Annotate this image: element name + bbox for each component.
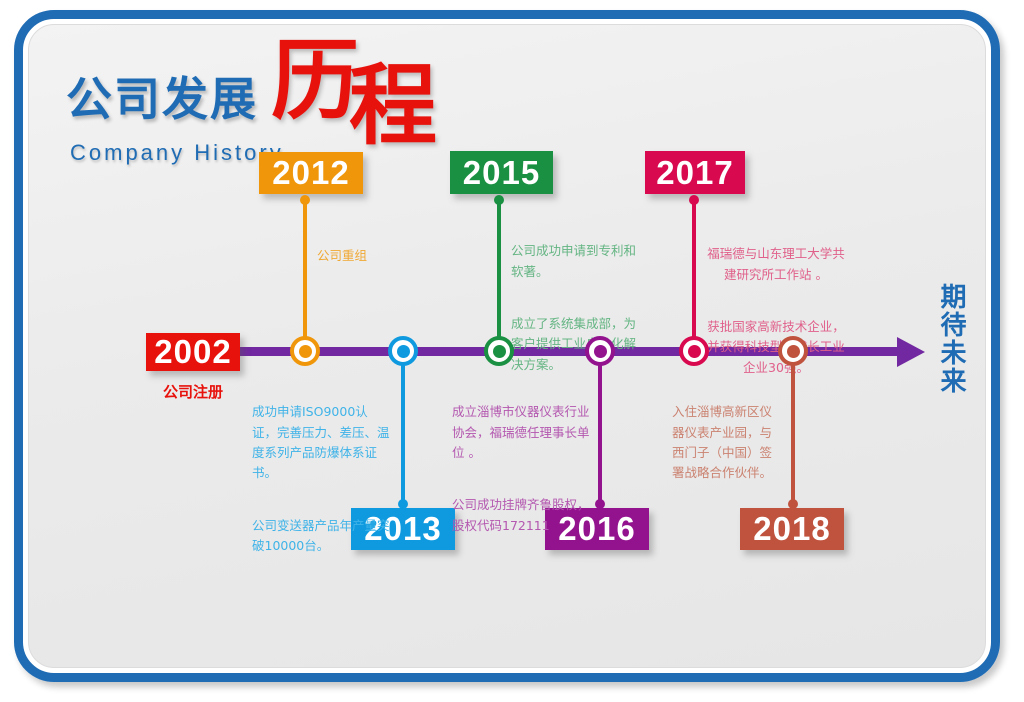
year-label-2012: 2012	[272, 154, 349, 192]
desc-2017: 福瑞德与山东理工大学共建研究所工作站 。 获批国家高新技术企业，并获得科技型高成…	[706, 224, 846, 398]
title-english: Company History	[70, 140, 284, 166]
axis-marker-core-2017	[688, 345, 701, 358]
infographic-canvas: 公司发展 历程 Company History 期待未来 2002 公司注册 2…	[0, 0, 1024, 702]
connector-stem-2018	[791, 352, 795, 506]
future-label: 期待未来	[932, 283, 966, 395]
desc-2016: 成立淄博市仪器仪表行业协会，福瑞德任理事长单位 。 公司成功挂牌齐鲁股权，股权代…	[452, 382, 590, 556]
year-chip-2015[interactable]: 2015	[450, 151, 553, 194]
connector-stem-2012	[303, 199, 307, 349]
title-char-cheng: 程	[349, 64, 437, 148]
axis-marker-core-2013	[397, 345, 410, 358]
desc-2018-p1: 入住淄博高新区仪器仪表产业园，与西门子（中国）签署战略合作伙伴。	[672, 402, 784, 483]
axis-marker-2015[interactable]	[484, 336, 514, 366]
axis-marker-2013[interactable]	[388, 336, 418, 366]
year-label-2017: 2017	[656, 154, 733, 192]
year-label-2015: 2015	[463, 154, 540, 192]
axis-marker-core-2016	[594, 345, 607, 358]
caption-2002: 公司注册	[163, 381, 223, 402]
connector-stem-2016	[598, 352, 602, 506]
connector-stem-2013	[401, 352, 405, 506]
page-title: 公司发展 历程 Company History	[66, 36, 486, 156]
desc-2016-p1: 成立淄博市仪器仪表行业协会，福瑞德任理事长单位 。	[452, 402, 590, 463]
connector-cap-2016	[595, 499, 605, 509]
desc-2013-p2: 公司变送器产品年产量突破10000台。	[252, 516, 390, 557]
desc-2018: 入住淄博高新区仪器仪表产业园，与西门子（中国）签署战略合作伙伴。	[672, 382, 784, 504]
desc-2017-p2: 获批国家高新技术企业，并获得科技型高成长工业企业30强。	[706, 317, 846, 378]
axis-marker-core-2012	[299, 345, 312, 358]
title-chinese-red: 历程	[271, 39, 447, 123]
year-label-2002: 2002	[154, 333, 231, 371]
connector-stem-2017	[692, 199, 696, 349]
connector-cap-2015	[494, 195, 504, 205]
year-chip-2002[interactable]: 2002	[146, 333, 240, 371]
connector-cap-2017	[689, 195, 699, 205]
axis-marker-2018[interactable]	[778, 336, 808, 366]
desc-2016-p2: 公司成功挂牌齐鲁股权，股权代码172111	[452, 495, 590, 536]
desc-2015-p1: 公司成功申请到专利和软著。	[511, 241, 639, 282]
desc-2017-p1: 福瑞德与山东理工大学共建研究所工作站 。	[706, 244, 846, 285]
year-chip-2012[interactable]: 2012	[259, 152, 363, 194]
desc-2013: 成功申请ISO9000认证，完善压力、差压、温度系列产品防爆体系证书。 公司变送…	[252, 382, 390, 576]
connector-cap-2018	[788, 499, 798, 509]
connector-cap-2013	[398, 499, 408, 509]
desc-2013-p1: 成功申请ISO9000认证，完善压力、差压、温度系列产品防爆体系证书。	[252, 402, 390, 483]
desc-2012: 公司重组	[317, 226, 467, 287]
axis-marker-2016[interactable]	[585, 336, 615, 366]
timeline-arrow-icon	[897, 337, 925, 367]
connector-cap-2012	[300, 195, 310, 205]
desc-2015: 公司成功申请到专利和软著。 成立了系统集成部，为客户提供工业自动化解决方案。	[511, 221, 639, 395]
desc-2012-p1: 公司重组	[317, 246, 467, 266]
axis-marker-2017[interactable]	[679, 336, 709, 366]
year-chip-2017[interactable]: 2017	[645, 151, 745, 194]
connector-stem-2015	[497, 199, 501, 349]
year-label-2018: 2018	[753, 510, 830, 548]
axis-marker-core-2015	[493, 345, 506, 358]
year-chip-2018[interactable]: 2018	[740, 508, 844, 550]
title-char-li: 历	[271, 29, 359, 132]
axis-marker-core-2018	[787, 345, 800, 358]
desc-2015-p2: 成立了系统集成部，为客户提供工业自动化解决方案。	[511, 314, 639, 375]
axis-marker-2012[interactable]	[290, 336, 320, 366]
title-chinese-blue: 公司发展	[66, 76, 258, 122]
